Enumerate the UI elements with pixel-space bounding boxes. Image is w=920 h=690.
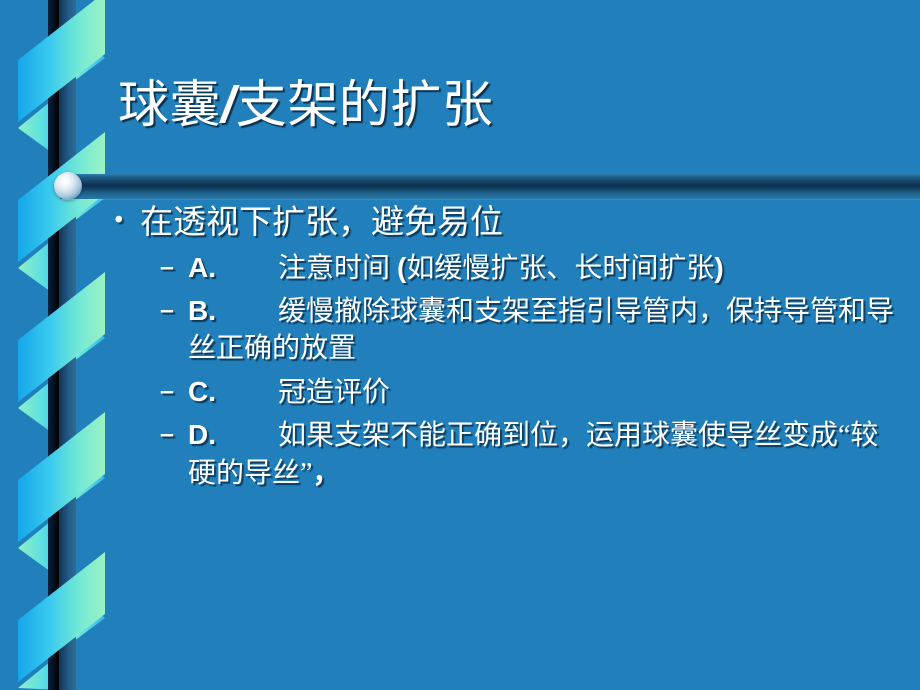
title-slash: / [221, 76, 236, 133]
sub-bullet-c-label: C. [188, 376, 216, 407]
ribbon-pole [48, 0, 76, 690]
dash-icon: – [160, 373, 182, 410]
content-placeholder[interactable]: • 在透视下扩张，避免易位 – A.注意时间 (如缓慢扩张、长时间扩张) – B… [112, 204, 902, 497]
bullet-dot-icon: • [112, 204, 140, 240]
sub-bullet-a-text: 注意时间 [278, 253, 397, 284]
page-title: 球囊/支架的扩张 [118, 76, 898, 135]
sub-bullet-d-text: 如果支架不能正确到位，运用球囊使导丝变成“较硬的导丝” [188, 420, 878, 489]
divider-bead-icon [54, 172, 82, 200]
sub-bullet-d: – D.如果支架不能正确到位，运用球囊使导丝变成“较硬的导丝”， [112, 416, 902, 492]
sub-bullet-c: – C.冠造评价 [112, 373, 902, 411]
title-part-1: 球囊 [118, 78, 221, 134]
sub-bullet-c-body: C.冠造评价 [188, 373, 902, 411]
dash-icon: – [160, 416, 182, 453]
ribbon-front-bands [18, 0, 105, 682]
sub-bullet-b-text: 缓慢撤除球囊和支架至指引导管内，保持导管和导丝正确的放置 [188, 296, 894, 364]
sub-bullet-b-label: B. [188, 295, 216, 326]
bullet-level1-text: 在透视下扩张，避免易位 [140, 204, 902, 243]
paren-open: ( [397, 252, 406, 283]
presentation-slide: 球囊/支架的扩张 • 在透视下扩张，避免易位 – A.注意时间 (如缓慢扩张、长… [0, 0, 920, 690]
sub-bullet-a-body: A.注意时间 (如缓慢扩张、长时间扩张) [188, 249, 902, 287]
ribbon-back-folds [18, 22, 105, 690]
title-part-2: 支架的扩张 [236, 78, 494, 134]
sub-bullet-d-label: D. [188, 419, 216, 450]
trailing-comma: ， [312, 457, 340, 488]
title-divider-bar [60, 174, 920, 199]
sub-bullet-b-body: B.缓慢撤除球囊和支架至指引导管内，保持导管和导丝正确的放置 [188, 292, 902, 367]
dash-icon: – [160, 249, 182, 286]
sub-bullet-a-label: A. [188, 252, 216, 283]
sub-bullet-c-text: 冠造评价 [278, 377, 390, 408]
paren-close: ) [714, 252, 723, 283]
ribbon-decoration-icon [0, 0, 130, 690]
sub-bullet-d-body: D.如果支架不能正确到位，运用球囊使导丝变成“较硬的导丝”， [188, 416, 902, 492]
sub-bullet-list: – A.注意时间 (如缓慢扩张、长时间扩张) – B.缓慢撤除球囊和支架至指引导… [112, 249, 902, 492]
sub-bullet-b: – B.缓慢撤除球囊和支架至指引导管内，保持导管和导丝正确的放置 [112, 292, 902, 367]
title-placeholder[interactable]: 球囊/支架的扩张 [118, 76, 898, 135]
bullet-level1: • 在透视下扩张，避免易位 [112, 204, 902, 243]
sub-bullet-a-inner: 如缓慢扩张、长时间扩张 [406, 253, 714, 284]
sub-bullet-a: – A.注意时间 (如缓慢扩张、长时间扩张) [112, 249, 902, 287]
dash-icon: – [160, 292, 182, 329]
